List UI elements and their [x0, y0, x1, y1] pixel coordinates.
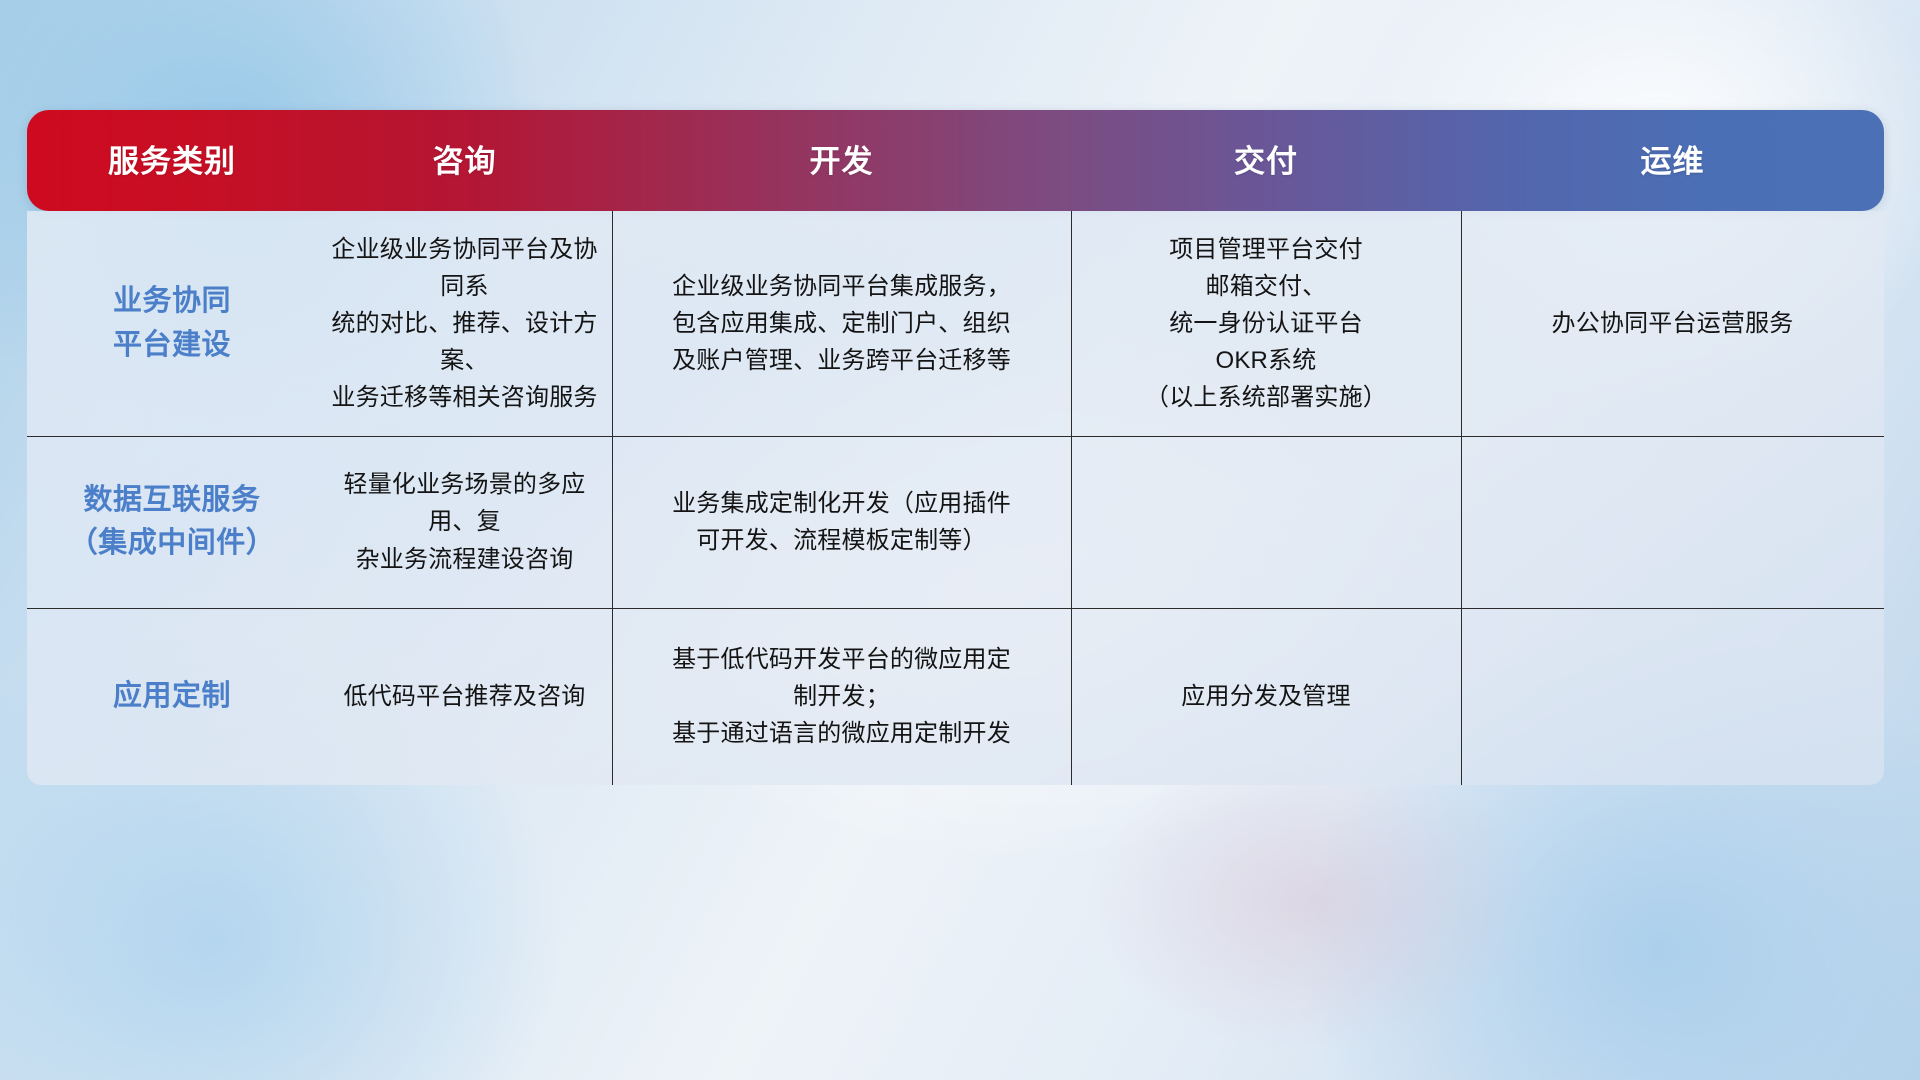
row-development-cell: 企业级业务协同平台集成服务， 包含应用集成、定制门户、组织 及账户管理、业务跨平…	[612, 211, 1071, 436]
cell-text: 低代码平台推荐及咨询	[344, 678, 586, 715]
row-category-cell: 数据互联服务 （集成中间件）	[27, 436, 317, 608]
cell-text: 办公协同平台运营服务	[1552, 305, 1794, 342]
cell-text: 企业级业务协同平台集成服务， 包含应用集成、定制门户、组织 及账户管理、业务跨平…	[672, 268, 1011, 380]
cell-text: 应用分发及管理	[1181, 678, 1350, 715]
table-body: 业务协同 平台建设 企业级业务协同平台及协同系 统的对比、推荐、设计方案、 业务…	[27, 211, 1884, 785]
row-consulting-cell: 轻量化业务场景的多应用、复 杂业务流程建设咨询	[317, 436, 612, 608]
table-row: 应用定制 低代码平台推荐及咨询 基于低代码开发平台的微应用定 制开发； 基于通过…	[27, 608, 1884, 785]
row-delivery-cell: 项目管理平台交付 邮箱交付、 统一身份认证平台 OKR系统 （以上系统部署实施）	[1071, 211, 1461, 436]
cell-text: 项目管理平台交付 邮箱交付、 统一身份认证平台 OKR系统 （以上系统部署实施）	[1145, 231, 1387, 417]
cell-text: 企业级业务协同平台及协同系 统的对比、推荐、设计方案、 业务迁移等相关咨询服务	[327, 231, 602, 417]
row-category-cell: 应用定制	[27, 608, 317, 785]
cell-text: 轻量化业务场景的多应用、复 杂业务流程建设咨询	[327, 466, 602, 578]
row-consulting-cell: 低代码平台推荐及咨询	[317, 608, 612, 785]
row-delivery-cell: 应用分发及管理	[1071, 608, 1461, 785]
row-consulting-cell: 企业级业务协同平台及协同系 统的对比、推荐、设计方案、 业务迁移等相关咨询服务	[317, 211, 612, 436]
row-category-label: 应用定制	[113, 675, 231, 719]
header-cell-development: 开发	[612, 144, 1071, 177]
row-operations-cell: 办公协同平台运营服务	[1461, 211, 1884, 436]
table-row: 业务协同 平台建设 企业级业务协同平台及协同系 统的对比、推荐、设计方案、 业务…	[27, 211, 1884, 436]
header-cell-delivery: 交付	[1071, 144, 1461, 177]
row-delivery-cell	[1071, 436, 1461, 608]
row-development-cell: 基于低代码开发平台的微应用定 制开发； 基于通过语言的微应用定制开发	[612, 608, 1071, 785]
cell-text: 业务集成定制化开发（应用插件 可开发、流程模板定制等）	[672, 485, 1011, 559]
row-development-cell: 业务集成定制化开发（应用插件 可开发、流程模板定制等）	[612, 436, 1071, 608]
table-header-row: 服务类别 咨询 开发 交付 运维	[27, 110, 1884, 211]
row-category-label: 业务协同 平台建设	[113, 280, 231, 367]
header-cell-service-category: 服务类别	[27, 144, 317, 177]
header-cell-consulting: 咨询	[317, 144, 612, 177]
row-operations-cell	[1461, 608, 1884, 785]
cell-text: 基于低代码开发平台的微应用定 制开发； 基于通过语言的微应用定制开发	[672, 641, 1011, 753]
row-category-label: 数据互联服务 （集成中间件）	[69, 479, 276, 566]
service-matrix-table: 服务类别 咨询 开发 交付 运维 业务协同 平台建设 企业级业务协同平台及协同系…	[27, 110, 1884, 785]
row-operations-cell	[1461, 436, 1884, 608]
header-cell-operations: 运维	[1461, 144, 1884, 177]
row-category-cell: 业务协同 平台建设	[27, 211, 317, 436]
table-row: 数据互联服务 （集成中间件） 轻量化业务场景的多应用、复 杂业务流程建设咨询 业…	[27, 436, 1884, 608]
